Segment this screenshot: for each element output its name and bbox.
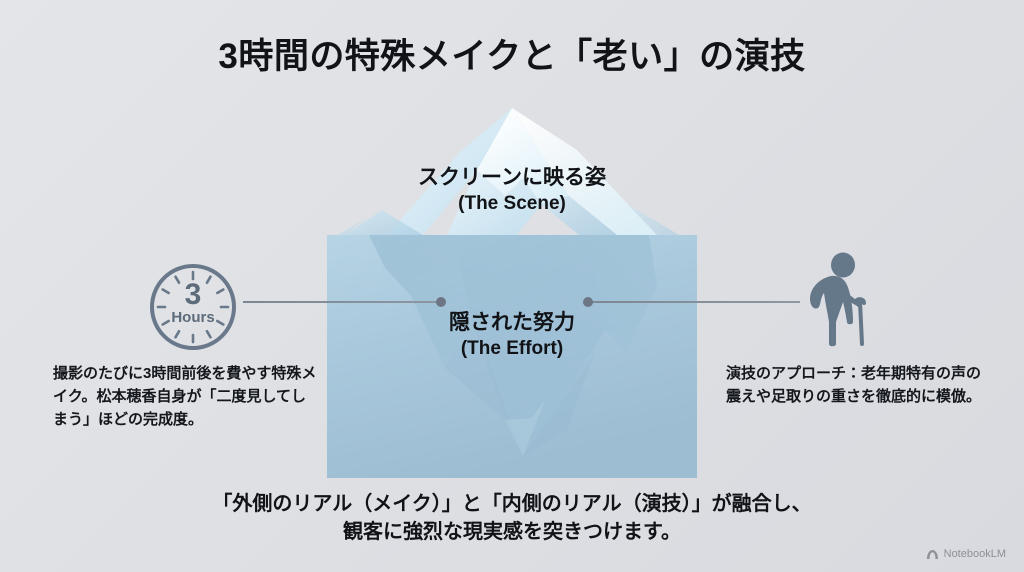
- caption-left: 撮影のたびに3時間前後を費やす特殊メイク。松本穂香自身が「二度見してしまう」ほど…: [53, 363, 321, 431]
- elderly-person-icon-svg: [798, 252, 872, 348]
- connector-dot-left: [436, 297, 446, 307]
- clock-unit: Hours: [148, 310, 238, 325]
- conclusion-line-2: 観客に強烈な現実感を突きつけます。: [0, 518, 1024, 546]
- connector-line-right: [588, 301, 800, 303]
- scene-label-bottom: 隠された努力 (The Effort): [312, 310, 712, 361]
- page-title: 3時間の特殊メイクと「老い」の演技: [0, 28, 1024, 79]
- scene-label-top-ja: スクリーンに映る姿: [312, 165, 712, 192]
- notebooklm-watermark: NotebookLM: [926, 548, 1006, 560]
- notebooklm-logo-icon: [926, 549, 939, 560]
- scene-label-bottom-ja: 隠された努力: [312, 310, 712, 337]
- scene-label-top: スクリーンに映る姿 (The Scene): [312, 165, 712, 216]
- connector-dot-right: [583, 297, 593, 307]
- notebooklm-label: NotebookLM: [944, 548, 1006, 560]
- clock-value: 3: [148, 280, 238, 310]
- caption-right: 演技のアプローチ：老年期特有の声の震えや足取りの重さを徹底的に模倣。: [726, 363, 994, 409]
- iceberg-illustration: [327, 100, 697, 478]
- iceberg-svg: [327, 100, 697, 478]
- scene-label-bottom-en: (The Effort): [312, 337, 712, 361]
- elderly-person-icon: [798, 252, 872, 348]
- scene-label-top-en: (The Scene): [312, 192, 712, 216]
- conclusion-line-1: 「外側のリアル（メイク）」と「内側のリアル（演技）」が融合し、: [0, 490, 1024, 518]
- infographic-canvas: 3時間の特殊メイクと「老い」の演技: [0, 0, 1024, 572]
- connector-line-left: [243, 301, 443, 303]
- clock-icon: 3 Hours: [148, 262, 238, 352]
- conclusion-text: 「外側のリアル（メイク）」と「内側のリアル（演技）」が融合し、 観客に強烈な現実…: [0, 490, 1024, 547]
